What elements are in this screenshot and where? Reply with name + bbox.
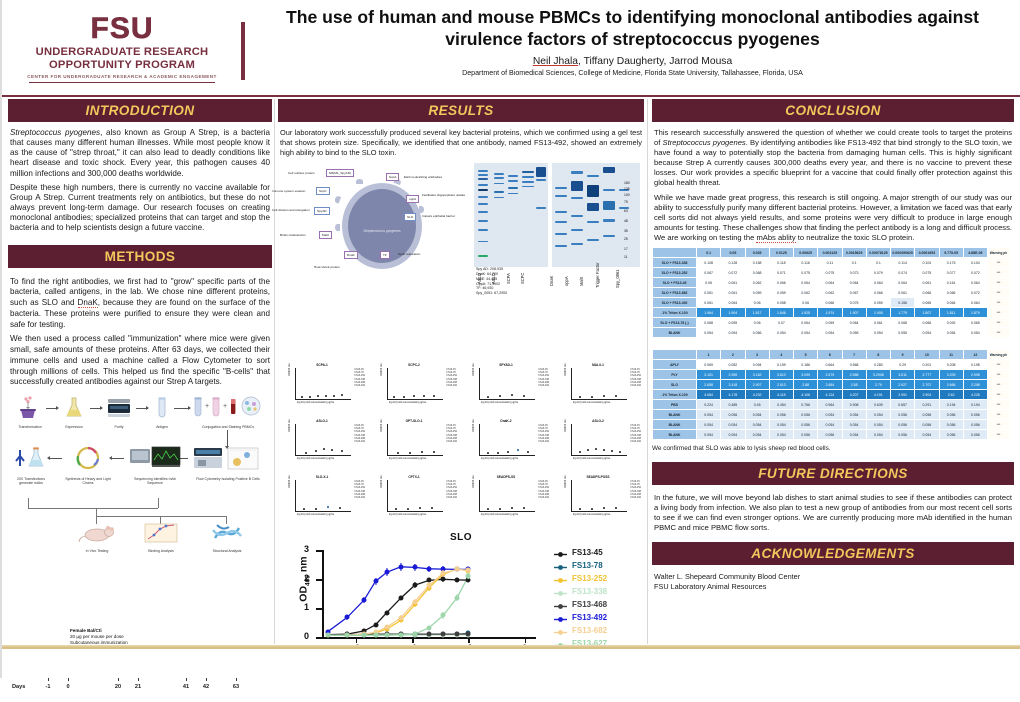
- diagram-chip-2: SpyAD: [314, 207, 330, 215]
- gel-lane-label-5: oppA: [564, 276, 569, 286]
- table1-cell: 0.065: [915, 298, 939, 308]
- table2-cell: 0.054: [745, 410, 769, 420]
- diagram-label-6: Facilitates oligopeptides uptake: [422, 193, 468, 197]
- gel-lane-label-2: SCPA: [506, 273, 511, 284]
- table2-cell: 0.054: [842, 420, 866, 430]
- table1-cell: 0.059: [866, 298, 890, 308]
- table2-cell: 0.454: [769, 400, 793, 410]
- mini-plot-7: ASLO-2 OD405 nmlog 10 [mAb concentration…: [554, 419, 642, 469]
- legend-item-FS13-45[interactable]: FS13-45: [554, 548, 607, 557]
- table2-cell: 0.056: [963, 420, 987, 430]
- table2-cell: 0.056: [721, 410, 745, 420]
- slo-point-FS13-45: [398, 596, 403, 601]
- elisa-mini-plot-grid: SCPA-1 OD405 nm log 10 [mAb concentratio…: [278, 363, 644, 528]
- table-row: BLANK0.0540.0540.0560.0540.0540.0540.055…: [653, 328, 1010, 338]
- table1-cell: 0.067: [697, 268, 721, 278]
- section-header-future: FUTURE DIRECTIONS: [652, 462, 1014, 487]
- table2-cell: 4.191: [866, 390, 890, 400]
- table2-cell: 4.118: [769, 390, 793, 400]
- title-block: The use of human and mouse PBMCs to iden…: [255, 6, 1010, 77]
- workflow-label-6: Sequencing Identifies mAb Sequence: [126, 477, 184, 485]
- acknowledgements-list: Walter L. Shepeard Community Blood Cente…: [652, 567, 1014, 591]
- svg-text:+: +: [223, 403, 227, 410]
- legend-item-FS13-682[interactable]: FS13-682: [554, 626, 607, 635]
- sequencer-monitor-icon: [128, 446, 182, 472]
- table1-cell: 1.779: [891, 308, 915, 318]
- table1-cell: 0.056: [745, 328, 769, 338]
- urop-subline: CENTER FOR UNDERGRADUATE RESEARCH & ACAD…: [18, 74, 226, 79]
- table2-cell: 0.664: [818, 360, 842, 370]
- table2-cell: 4.084: [697, 390, 721, 400]
- table1-cell: 0.092: [939, 318, 963, 328]
- table1-cell: 0.116: [794, 258, 818, 268]
- workflow-step-antigen: Antigen: [148, 396, 176, 429]
- gel-right: [552, 163, 640, 267]
- table2-cell: 0.198: [963, 360, 987, 370]
- workflow-label-8: 2X0 Transfections generate mAbs: [10, 477, 52, 485]
- table2-cell: 0.056: [963, 430, 987, 440]
- introduction-paragraph-1: Streptococcus pyogenes, also known as Gr…: [8, 124, 272, 179]
- table1-cell: 0.07: [769, 318, 793, 328]
- table2-cell: 0.054: [818, 420, 842, 430]
- table2-warn-cell: ***: [988, 400, 1010, 410]
- table1-row-label-6: SLO + FS13-78 (-): [653, 318, 697, 328]
- flow-cytometer-icon: [192, 446, 264, 472]
- diagram-chip-0: M6(M1_SpyAD): [326, 169, 354, 177]
- legend-item-FS13-492[interactable]: FS13-492: [554, 613, 607, 622]
- table1-cell: 0.11: [818, 258, 842, 268]
- section-header-methods: METHODS: [8, 245, 272, 270]
- table2-warn-cell: ***: [988, 370, 1010, 380]
- table1-cell: 0.054: [769, 328, 793, 338]
- table2-cell: 0.208: [939, 360, 963, 370]
- table2-col-header-0: 1: [697, 350, 721, 360]
- table1-cell: 1.811: [939, 308, 963, 318]
- legend-label: FS13-45: [572, 548, 603, 557]
- workflow-label-7: Synthesis of Heavy and Light Chains: [64, 477, 112, 485]
- table-row: SLO + FS13-2520.0670.0720.0680.0710.0750…: [653, 268, 1010, 278]
- table1-cell: 0.066: [866, 288, 890, 298]
- fsu-wordmark: FSU: [18, 14, 226, 44]
- table2-cell: 0.657: [891, 400, 915, 410]
- table1-cell: 0.06: [697, 278, 721, 288]
- table1-cell: 0.054: [866, 328, 890, 338]
- legend-item-FS13-78[interactable]: FS13-78: [554, 561, 607, 570]
- mini-legend-9: FS13-45FS13-78 FS13-252FS13-338 FS13-468…: [447, 480, 458, 499]
- table2-cell: 4.106: [794, 390, 818, 400]
- table1-cell: 0.059: [745, 288, 769, 298]
- table1-cell: 0.061: [721, 278, 745, 288]
- table1-cell: 0.06: [745, 318, 769, 328]
- mini-axes-6: OD405 nmlog 10 [mAb concentration] µg/mL: [473, 424, 539, 458]
- timeline-num-2: 20: [110, 684, 126, 690]
- mini-plot-10: SEADPS-SS OD405 nmlog 10 [mAb concentrat…: [462, 475, 550, 525]
- table2-cell: 0.094: [745, 360, 769, 370]
- gel-lane-label-3: SCPC: [520, 273, 525, 284]
- table1-cell: 0.064: [963, 298, 987, 308]
- slo-point-FS13-492: [427, 566, 432, 571]
- table2-col-header-10: 11: [939, 350, 963, 360]
- table-row: .1% Triton X-1001.9641.9041.8171.8461.92…: [653, 308, 1010, 318]
- table2-cell: 2.298: [963, 380, 987, 390]
- timeline-num-1: 0: [60, 684, 76, 690]
- gel-lane-label-1: ASLO: [491, 273, 496, 284]
- slo-point-FS13-492: [412, 565, 417, 570]
- mini-axes-11: OD405 nmlog 10 [mAb concentration] µg/mL: [565, 480, 631, 514]
- legend-item-FS13-338[interactable]: FS13-338: [554, 587, 607, 596]
- legend-marker-icon: [554, 615, 567, 620]
- mini-legend-1: FS13-45FS13-78 FS13-252FS13-338 FS13-468…: [447, 368, 458, 387]
- mini-axes-3: OD405 nmlog 10 [mAb concentration] µg/mL: [565, 368, 631, 402]
- table2-cell: 4.228: [963, 390, 987, 400]
- mini-ylabel-0: OD405 nm: [288, 363, 291, 376]
- table1-cell: 0.079: [866, 268, 890, 278]
- table2-cell: 0.194: [939, 400, 963, 410]
- table1-cell: 1.964: [697, 308, 721, 318]
- results-figures: Streptococcus pyogenes Cell surface prot…: [278, 161, 644, 361]
- table1-cell: 0.071: [769, 268, 793, 278]
- table2-cell: 3.101: [697, 370, 721, 380]
- slo-point-FS13-492: [373, 579, 378, 584]
- legend-label: FS13-78: [572, 561, 603, 570]
- table1-warn-cell: ***: [988, 258, 1010, 268]
- gel-mw-mark-7: 25: [624, 237, 628, 241]
- methods-workflow-figure: Transformation Expression Purify: [8, 394, 270, 626]
- table1-cell: 0.156: [891, 298, 915, 308]
- table-row: SLO + FS13-450.060.0610.0620.0660.0640.0…: [653, 278, 1010, 288]
- table2-cell: 0.054: [866, 430, 890, 440]
- table1-corner: [653, 248, 697, 258]
- table1-cell: 1.904: [721, 308, 745, 318]
- column-right: CONCLUSION This research successfully an…: [652, 99, 1014, 592]
- table1-cell: 1.879: [963, 308, 987, 318]
- table2-cell: 2.513: [769, 380, 793, 390]
- table1-cell: 0.1: [866, 258, 890, 268]
- table1-cell: 1.907: [842, 308, 866, 318]
- legend-marker-icon: [554, 589, 567, 594]
- column-divider-2: [647, 99, 648, 644]
- table1-cell: 0.061: [697, 298, 721, 308]
- timeline-num-0: -1: [40, 684, 56, 690]
- table1-warn-cell: ***: [988, 278, 1010, 288]
- workflow-step-sequencing: Sequencing Identifies mAb Sequence: [126, 446, 184, 485]
- table2-cell: 3.099: [794, 370, 818, 380]
- gel-lane-label-4: DnaK: [549, 276, 554, 286]
- immunization-note: Female Bal/Cti 20 µg per mouse per dose …: [70, 628, 128, 647]
- conjugation-staining-icon: + +: [191, 396, 265, 420]
- mini-legend-10: FS13-45FS13-78 FS13-252FS13-338 FS13-468…: [539, 480, 550, 499]
- table2-cell: 2.568: [842, 370, 866, 380]
- workflow-arrow-1: [46, 408, 58, 409]
- slo-point-FS13-627: [362, 633, 367, 638]
- table1-cell: 1.974: [818, 308, 842, 318]
- slo-point-FS13-682: [412, 599, 417, 604]
- table2-cell: 2.79: [866, 380, 890, 390]
- table1-cell: 0.068: [745, 268, 769, 278]
- methods-paragraph-2: We then used a process called "immunizat…: [8, 330, 272, 388]
- mini-plot-6: DnaK-2 OD405 nmlog 10 [mAb concentration…: [462, 419, 550, 469]
- table1-cell: 0.066: [939, 288, 963, 298]
- virulence-factor-diagram: Streptococcus pyogenes Cell surface prot…: [286, 163, 472, 291]
- mini-xlabel-0: log 10 [mAb concentration] µg/mL: [297, 401, 334, 404]
- table1-cell: 0.1: [842, 258, 866, 268]
- gel-left: [474, 163, 548, 267]
- table2-cell: 0.056: [963, 410, 987, 420]
- table1-warn-header: Warning ph: [988, 248, 1010, 258]
- table2-cell: 0.054: [745, 430, 769, 440]
- table1-cell: 0.064: [842, 318, 866, 328]
- slo-point-FS13-627: [384, 632, 389, 637]
- table2-cell: 0.056: [794, 420, 818, 430]
- table1-cell: 0.054: [963, 328, 987, 338]
- analysis-binding: Binding Analysis: [134, 522, 188, 553]
- table1-cell: 1.846: [769, 308, 793, 318]
- conclusion-spell-mabs: mAbs ablity: [756, 233, 795, 243]
- table2-cell: 0.054: [697, 410, 721, 420]
- table1-cell: 0.061: [891, 288, 915, 298]
- table2-corner: [653, 350, 697, 360]
- left-edge-border: [0, 0, 2, 678]
- mini-legend-8: FS13-45FS13-78 FS13-252FS13-338 FS13-468…: [355, 480, 366, 499]
- table-row: ΔPLY0.0690.0820.0940.1590.1860.6640.5680…: [653, 360, 1010, 370]
- gel-mw-mark-8: 17: [624, 247, 628, 251]
- table2-cell: 0.054: [745, 420, 769, 430]
- legend-item-FS13-468[interactable]: FS13-468: [554, 600, 607, 609]
- table2-cell: 0.054: [842, 410, 866, 420]
- table1-col-header-6: 0.0015625: [842, 248, 866, 258]
- table2-warn-cell: ***: [988, 380, 1010, 390]
- slo-point-FS13-45: [373, 622, 378, 627]
- table1-cell: 0.067: [842, 288, 866, 298]
- table1-col-header-4: 0.00625: [794, 248, 818, 258]
- table1-row-label-5: .1% Triton X-100: [653, 308, 697, 318]
- table2-warn-header: Warning ph: [988, 350, 1010, 360]
- table1-warn-cell: ***: [988, 288, 1010, 298]
- workflow-label-3: Antigen: [148, 425, 176, 429]
- slo-line-FS13-627: [328, 576, 469, 635]
- table1-warn-cell: ***: [988, 328, 1010, 338]
- table1-cell: 0.064: [721, 298, 745, 308]
- mini-plot-9: CPTX-1 OD405 nmlog 10 [mAb concentration…: [370, 475, 458, 525]
- bacterium-label: Streptococcus pyogenes: [348, 229, 416, 233]
- table1-col-header-7: 0.00078125: [866, 248, 890, 258]
- table2-row-label-6: BLANK: [653, 420, 697, 430]
- table2-cell: 3.162: [745, 370, 769, 380]
- slo-point-FS13-45: [412, 583, 417, 588]
- mini-plot-8: SLO-X-1 OD405 nmlog 10 [mAb concentratio…: [278, 475, 366, 525]
- table2-cell: 2.777: [915, 370, 939, 380]
- mini-legend-3: FS13-45FS13-78 FS13-252FS13-338 FS13-468…: [631, 368, 642, 387]
- coauthors: , Tiffany Daugherty, Jarrod Mousa: [578, 56, 732, 67]
- table2-cell: 0.054: [769, 430, 793, 440]
- table2-cell: 2.707: [915, 380, 939, 390]
- author-list: Neil Jhala, Tiffany Daugherty, Jarrod Mo…: [255, 56, 1010, 67]
- slo-point-FS13-492: [384, 570, 389, 575]
- slo-point-FS13-627: [455, 595, 460, 600]
- diagram-label-1: Immune system evasion: [272, 189, 305, 193]
- table2-row-label-7: BLANK: [653, 430, 697, 440]
- mini-legend-5: FS13-45FS13-78 FS13-252FS13-338 FS13-468…: [447, 424, 458, 443]
- logo-divider: [29, 82, 215, 83]
- workflow-label-5: Flow Cytometry Isolating Positive B Cell…: [190, 477, 266, 481]
- workflow-label-1: Expression: [58, 425, 90, 429]
- diagram-label-7: Impairs epithelial barrier: [422, 214, 455, 218]
- slo-point-FS13-682: [427, 583, 432, 588]
- table1-cell: 0.066: [915, 318, 939, 328]
- workflow-arrow-3: [136, 408, 148, 409]
- table2-cell: 0.054: [697, 420, 721, 430]
- mini-plot-0: SCPA-1 OD405 nm log 10 [mAb concentratio…: [278, 363, 366, 413]
- table2-cell: 2.58: [842, 380, 866, 390]
- urop-line-2: OPPORTUNITY PROGRAM: [18, 59, 226, 72]
- table2-cell: 0.056: [794, 430, 818, 440]
- table2-cell: 0.224: [697, 400, 721, 410]
- table2-cell: 0.056: [939, 410, 963, 420]
- table2-cell: 2.418: [721, 380, 745, 390]
- conclusion-species: Streptococcus pyogenes: [663, 138, 746, 147]
- table-row: PLY3.1012.9553.1623.6133.0992.6792.5683.…: [653, 370, 1010, 380]
- table2-cell: 0.054: [818, 410, 842, 420]
- table2-col-header-9: 10: [915, 350, 939, 360]
- table1-cell: 0.114: [891, 258, 915, 268]
- workflow-step-expression: Expression: [58, 396, 90, 429]
- section-header-acknowledgements: ACKNOWLEDGEMENTS: [652, 542, 1014, 567]
- protein-structure-icon: [209, 522, 245, 544]
- legend-label: FS13-468: [572, 600, 607, 609]
- table1-cell: 0.108: [697, 258, 721, 268]
- column-center: RESULTS Our laboratory work successfully…: [278, 99, 644, 684]
- timeline-num-5: 42: [198, 684, 214, 690]
- table2-col-header-3: 4: [769, 350, 793, 360]
- gel-mw-mark-9: 11: [624, 255, 628, 259]
- antibody-flask-icon: [12, 446, 50, 472]
- table2-cell: 0.29: [891, 360, 915, 370]
- legend-label: FS13-492: [572, 613, 607, 622]
- mw-item-8: Spy_0051: 67,2900: [476, 291, 507, 296]
- table2-cell: 2.927: [891, 380, 915, 390]
- diagram-chip-5: ScpA: [386, 173, 399, 181]
- table2-cell: 0.568: [842, 360, 866, 370]
- gel-lane-label-0: ASLO: [477, 273, 482, 284]
- table1-cell: 0.062: [818, 288, 842, 298]
- table2-cell: 0.639: [866, 400, 890, 410]
- table1-cell: 0.077: [939, 268, 963, 278]
- intro-species-name: Streptococcus pyogenes: [10, 128, 100, 137]
- table2-cell: 0.056: [891, 410, 915, 420]
- mouse-dose: 20 µg per mouse per dose: [70, 634, 124, 639]
- mini-axes-8: OD405 nmlog 10 [mAb concentration] µg/mL: [289, 480, 355, 514]
- table1-row-label-0: SLO + FS13-338: [653, 258, 697, 268]
- table1-warn-cell: ***: [988, 308, 1010, 318]
- table2-cell: 0.159: [769, 360, 793, 370]
- table1-cell: 0.061: [915, 278, 939, 288]
- table2-row-label-1: PLY: [653, 370, 697, 380]
- table-row: SLO + FS13-3380.1080.1280.1580.1180.1160…: [653, 258, 1010, 268]
- table2-cell: 0.291: [915, 400, 939, 410]
- legend-marker-icon: [554, 602, 567, 607]
- plasmid-icon: [68, 446, 108, 472]
- table2-warn-cell: ***: [988, 430, 1010, 440]
- table2-cell: 3.209: [939, 370, 963, 380]
- table1-col-header-3: 0.0125: [769, 248, 793, 258]
- slo-point-FS13-45: [441, 577, 446, 582]
- diagram-label-5: Elicit neutralizing antibodies: [404, 175, 442, 179]
- table1-cell: 0.064: [939, 298, 963, 308]
- legend-label: FS13-338: [572, 587, 607, 596]
- table2-header-row: 123456789101112Warning ph: [653, 350, 1010, 360]
- gel-mw-mark-4: 63: [624, 209, 628, 213]
- table1-cell: 0.059: [721, 318, 745, 328]
- table1-cell: 0.054: [818, 328, 842, 338]
- table1-cell: 0.054: [915, 328, 939, 338]
- section-header-conclusion: CONCLUSION: [652, 99, 1014, 124]
- table1-col-header-2: 0.025: [745, 248, 769, 258]
- workflow-arrow-2: [90, 408, 102, 409]
- table2-col-header-6: 7: [842, 350, 866, 360]
- table2-cell: 0.056: [891, 430, 915, 440]
- table1-cell: 0.062: [745, 278, 769, 288]
- table1-cell: 0.064: [794, 318, 818, 328]
- table1-cell: 0.061: [721, 288, 745, 298]
- table2-cell: 0.056: [891, 420, 915, 430]
- column-divider-1: [274, 99, 275, 644]
- diagram-chip-3: MalX: [319, 231, 332, 239]
- page-title: The use of human and mouse PBMCs to iden…: [255, 6, 1010, 51]
- table2-cell: 2.991: [891, 390, 915, 400]
- table1-cell: 0.175: [939, 258, 963, 268]
- table1-cell: 0.066: [769, 278, 793, 288]
- table1-header-row: 0.10.050.0250.01250.006250.0031250.00156…: [653, 248, 1010, 258]
- table1-warn-cell: ***: [988, 268, 1010, 278]
- slo-legend: FS13-45FS13-78FS13-252FS13-338FS13-468FS…: [554, 548, 607, 652]
- table2-col-header-5: 6: [818, 350, 842, 360]
- workflow-label-2: Purify: [102, 425, 136, 429]
- slo-point-FS13-492: [362, 597, 367, 602]
- table2-cell: 0.056: [769, 410, 793, 420]
- table-row: PBS0.2240.4850.450.4540.7660.9640.9080.6…: [653, 400, 1010, 410]
- table2-row-label-2: SLO: [653, 380, 697, 390]
- diagram-label-0: Cell surface protein: [288, 171, 315, 175]
- table2-cell: 2.666: [939, 380, 963, 390]
- table1-cell: 0.064: [794, 278, 818, 288]
- mini-legend-2: FS13-45FS13-78 FS13-252FS13-338 FS13-468…: [539, 368, 550, 387]
- gel-lane-label-7: Trigger Factor: [595, 262, 600, 288]
- slo-point-FS13-492: [398, 564, 403, 569]
- table2-cell: 3.011: [891, 370, 915, 380]
- slo-point-FS13-468: [466, 631, 471, 636]
- mini-axes-9: OD405 nmlog 10 [mAb concentration] µg/mL: [381, 480, 447, 514]
- table2-cell: 3.613: [769, 370, 793, 380]
- diagram-chip-8: TF: [380, 251, 390, 259]
- table1-cell: 0.118: [769, 258, 793, 268]
- table1-cell: 0.059: [818, 318, 842, 328]
- conclusion-paragraph-1: This research successfully answered the …: [652, 124, 1014, 189]
- table2-cell: 4.232: [745, 390, 769, 400]
- table2-cell: 0.054: [915, 430, 939, 440]
- table1-cell: 0.066: [818, 298, 842, 308]
- slo-point-FS13-627: [398, 632, 403, 637]
- table1-cell: 1.807: [915, 308, 939, 318]
- slo-point-FS13-627: [466, 574, 471, 579]
- section-header-introduction: INTRODUCTION: [8, 99, 272, 124]
- presenting-author: Neil Jhala: [533, 56, 578, 67]
- slo-point-FS13-682: [455, 567, 460, 572]
- surface-bump-2: [334, 195, 341, 203]
- table1-col-header-11: 4.88E-05: [963, 248, 987, 258]
- legend-item-FS13-252[interactable]: FS13-252: [554, 574, 607, 583]
- table-row: SLO + FS13-78 (-)0.0680.0590.060.070.064…: [653, 318, 1010, 328]
- bracket-stem-left: [28, 498, 29, 508]
